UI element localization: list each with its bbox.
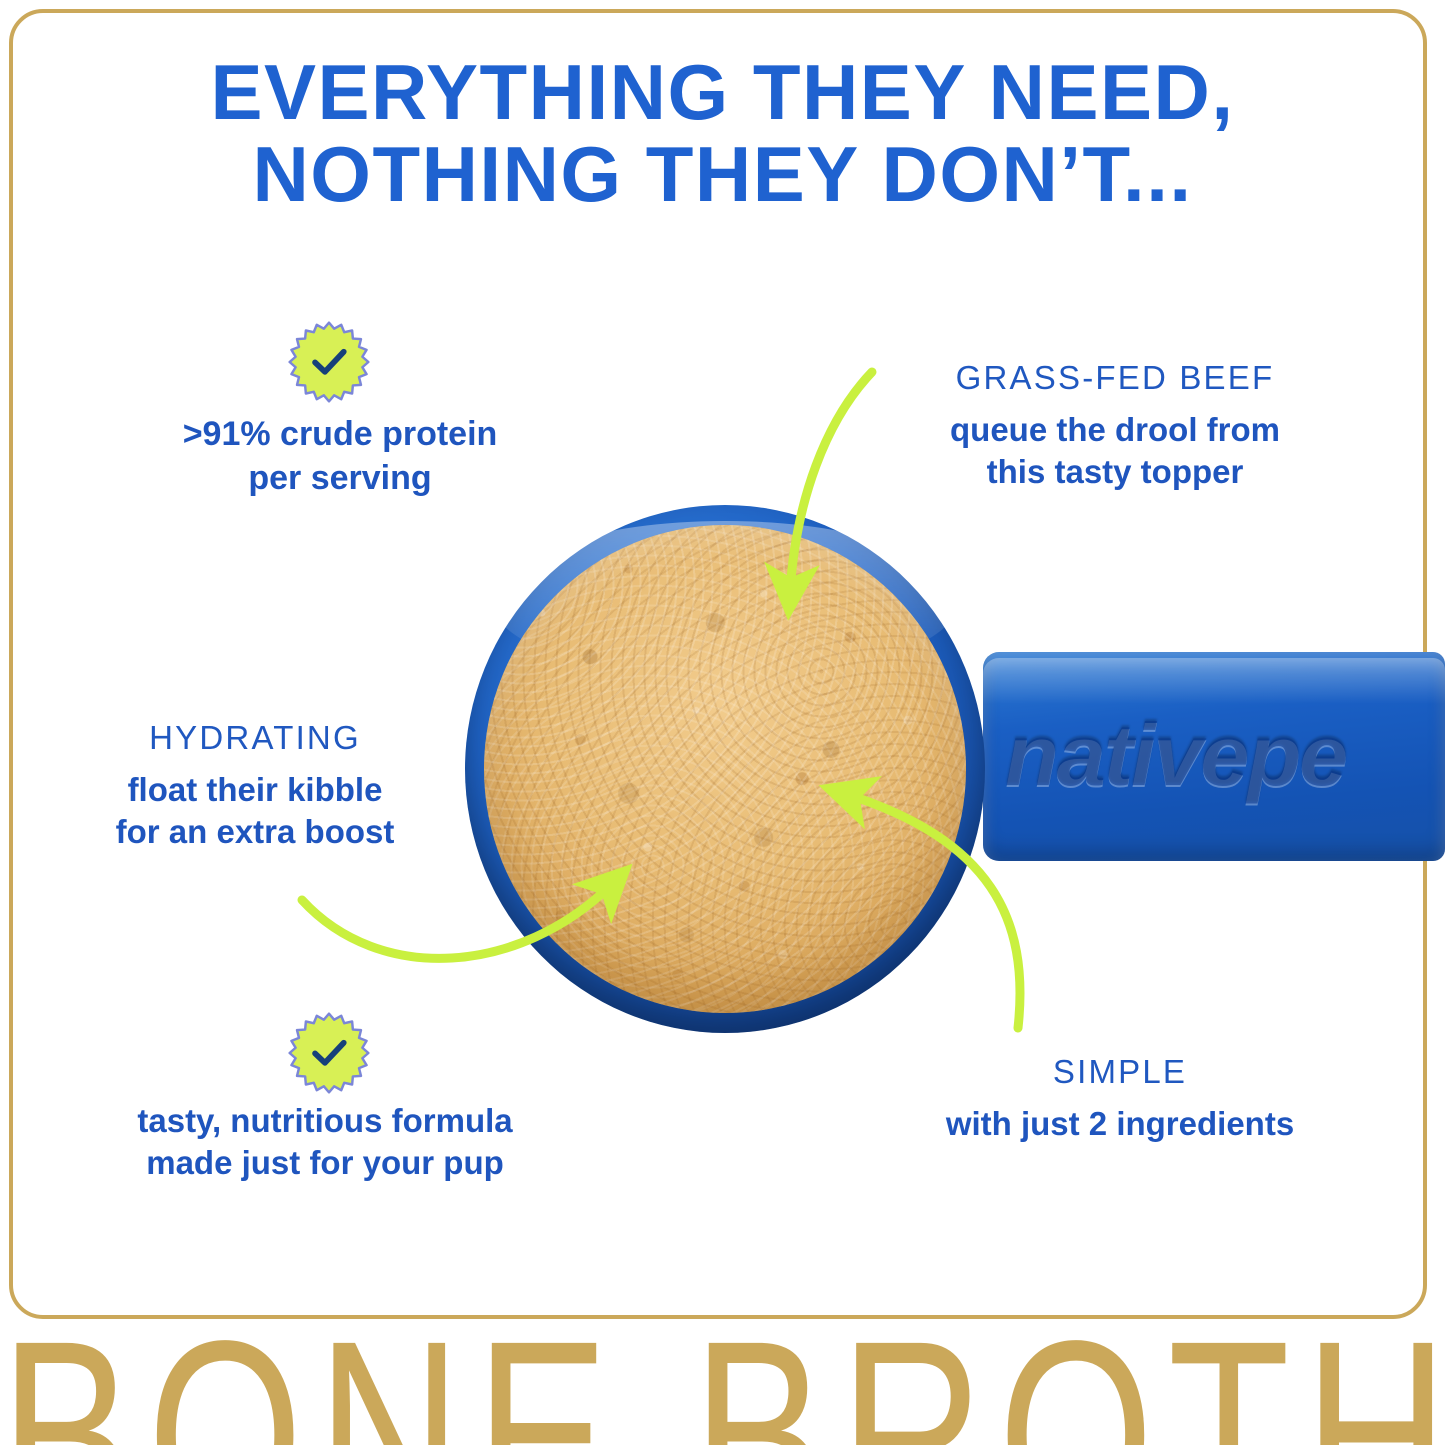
callout-protein-body: >91% crude protein per serving <box>105 413 575 500</box>
callout-hydrating-heading: HYDRATING <box>45 718 465 758</box>
callout-protein: >91% crude protein per serving <box>105 413 575 500</box>
brand-emboss-text: nativepe <box>1005 704 1445 806</box>
scoop-handle: nativepe <box>983 652 1445 861</box>
infographic-canvas: EVERYTHING THEY NEED, NOTHING THEY DON’T… <box>0 0 1445 1445</box>
product-photo-scoop: nativepe <box>440 495 1445 1040</box>
callout-simple-heading: SIMPLE <box>895 1052 1345 1092</box>
check-starburst-icon <box>288 321 370 403</box>
handle-sheen <box>983 658 1445 704</box>
callout-hydrating: HYDRATING float their kibble for an extr… <box>45 718 465 853</box>
callout-hydrating-body: float their kibble for an extra boost <box>45 769 465 853</box>
callout-tasty: tasty, nutritious formula made just for … <box>75 1100 575 1184</box>
check-starburst-icon <box>288 1012 370 1094</box>
bone-broth-powder <box>484 525 966 1013</box>
scoop-bowl <box>465 505 985 1033</box>
callout-grassfed: GRASS-FED BEEF queue the drool from this… <box>885 358 1345 493</box>
callout-simple-body: with just 2 ingredients <box>895 1103 1345 1145</box>
page-title: EVERYTHING THEY NEED, NOTHING THEY DON’T… <box>0 52 1445 216</box>
callout-simple: SIMPLE with just 2 ingredients <box>895 1052 1345 1145</box>
product-name-bone-broth: BONE BROTH <box>0 1318 1445 1445</box>
callout-grassfed-heading: GRASS-FED BEEF <box>885 358 1345 398</box>
callout-tasty-body: tasty, nutritious formula made just for … <box>75 1100 575 1184</box>
powder-texture <box>484 525 966 1013</box>
callout-grassfed-body: queue the drool from this tasty topper <box>885 409 1345 493</box>
